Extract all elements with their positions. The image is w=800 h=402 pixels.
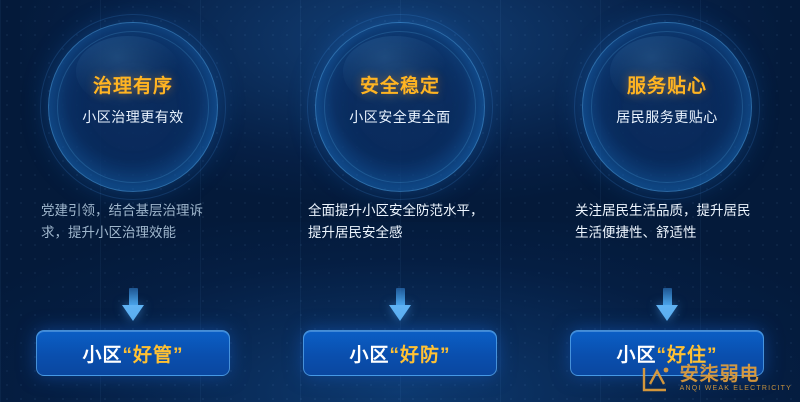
description-text: 党建引领，结合基层治理诉求，提升小区治理效能 (41, 200, 225, 244)
pill-prefix: 小区 (349, 340, 389, 367)
outcome-pill-governance[interactable]: 小区 “好管” (36, 330, 230, 376)
watermark-name-en: ANQI WEAK ELECTRICITY (680, 385, 792, 392)
arrow-stem (663, 288, 672, 306)
slide-canvas: 治理有序 小区治理更有效 党建引领，结合基层治理诉求，提升小区治理效能 小区 “… (0, 0, 800, 402)
pill-highlight: “好管” (123, 340, 184, 367)
outcome-pill-security[interactable]: 小区 “好防” (303, 330, 497, 376)
sphere-highlight (610, 36, 714, 107)
column-governance: 治理有序 小区治理更有效 党建引领，结合基层治理诉求，提升小区治理效能 小区 “… (0, 0, 266, 402)
down-arrow-icon (387, 288, 413, 322)
sphere-title: 安全稳定 (316, 71, 484, 98)
sphere-subtitle: 小区安全更全面 (316, 107, 484, 127)
arrow-head (389, 305, 411, 321)
sphere-subtitle: 小区治理更有效 (49, 107, 217, 127)
sphere-inner-ring (57, 31, 209, 183)
arrow-head (656, 305, 678, 321)
description-text: 关注居民生活品质，提升居民生活便捷性、舒适性 (575, 200, 759, 244)
column-security: 安全稳定 小区安全更全面 全面提升小区安全防范水平，提升居民安全感 小区 “好防… (267, 0, 533, 402)
arrow-head (122, 305, 144, 321)
watermark: 安柒弱电 ANQI WEAK ELECTRICITY (640, 362, 792, 396)
sphere-service: 服务贴心 居民服务更贴心 (582, 22, 752, 192)
column-service: 服务贴心 居民服务更贴心 关注居民生活品质，提升居民生活便捷性、舒适性 小区 “… (534, 0, 800, 402)
arrow-stem (129, 288, 138, 306)
down-arrow-icon (120, 288, 146, 322)
anqi-logo-icon (640, 362, 674, 396)
sphere-governance: 治理有序 小区治理更有效 (48, 22, 218, 192)
sphere-subtitle: 居民服务更贴心 (583, 107, 751, 127)
sphere-highlight (343, 36, 447, 107)
arrow-stem (396, 288, 405, 306)
sphere-inner-ring (591, 31, 743, 183)
down-arrow-icon (654, 288, 680, 322)
pill-highlight: “好防” (390, 340, 451, 367)
sphere-title: 治理有序 (49, 71, 217, 98)
watermark-name-cn: 安柒弱电 (680, 365, 792, 385)
pill-prefix: 小区 (82, 340, 122, 367)
sphere-inner-ring (324, 31, 476, 183)
sphere-title: 服务贴心 (583, 71, 751, 98)
sphere-highlight (76, 36, 180, 107)
sphere-security: 安全稳定 小区安全更全面 (315, 22, 485, 192)
watermark-text: 安柒弱电 ANQI WEAK ELECTRICITY (680, 365, 792, 392)
description-text: 全面提升小区安全防范水平，提升居民安全感 (308, 200, 492, 244)
